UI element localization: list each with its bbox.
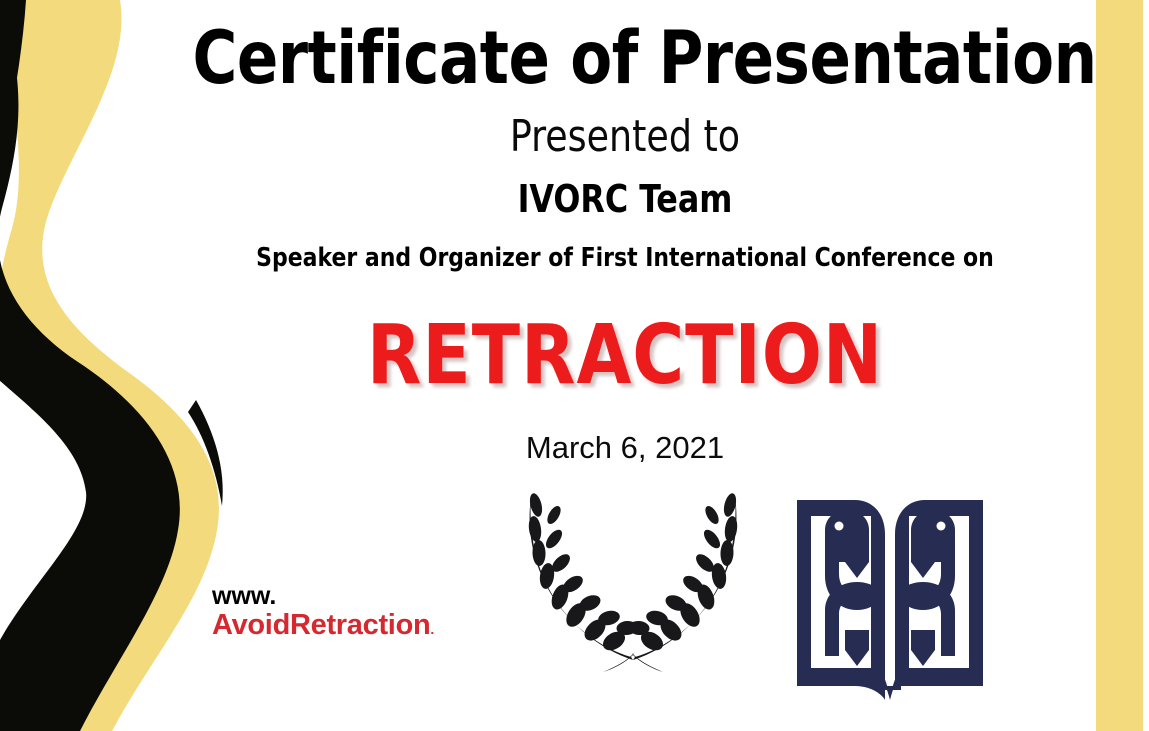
recipient-role-line: Speaker and Organizer of First Internati… [188, 245, 1062, 271]
ribbon-black-tail-top [0, 0, 26, 170]
presented-to-label: Presented to [197, 115, 1053, 159]
website-url[interactable]: www. AvoidRetraction. [212, 583, 434, 641]
recipient-name: IVORC Team [193, 180, 1058, 218]
wreath-tail-left [603, 653, 634, 672]
book-spine-gap [885, 500, 895, 686]
website-url-domain-text: AvoidRetraction [212, 609, 430, 641]
wreath-tail-right [632, 653, 663, 672]
ribbon-black-wave [0, 10, 180, 731]
laurel-wreath-icon [513, 487, 753, 672]
wreath-left-inner-leaves [543, 504, 638, 636]
wreath-right-inner-leaves [628, 504, 723, 636]
website-url-domain: AvoidRetraction. [212, 610, 434, 641]
book-right-figure-eye [937, 522, 946, 531]
website-url-suffix: . [430, 621, 434, 637]
issue-date: March 6, 2021 [160, 432, 1090, 463]
page-title: Certificate of Presentation [193, 22, 1058, 95]
certificate-canvas: Certificate of Presentation Presented to… [0, 0, 1149, 731]
website-url-prefix: www. [212, 583, 434, 610]
right-gold-band-decoration [1096, 0, 1143, 731]
conference-topic-headline: RETRACTION [179, 315, 1072, 397]
book-left-figure-eye [835, 522, 844, 531]
university-book-logo-icon [795, 490, 985, 700]
wreath-right-leaves [638, 492, 739, 654]
wreath-left-leaves [527, 492, 628, 654]
